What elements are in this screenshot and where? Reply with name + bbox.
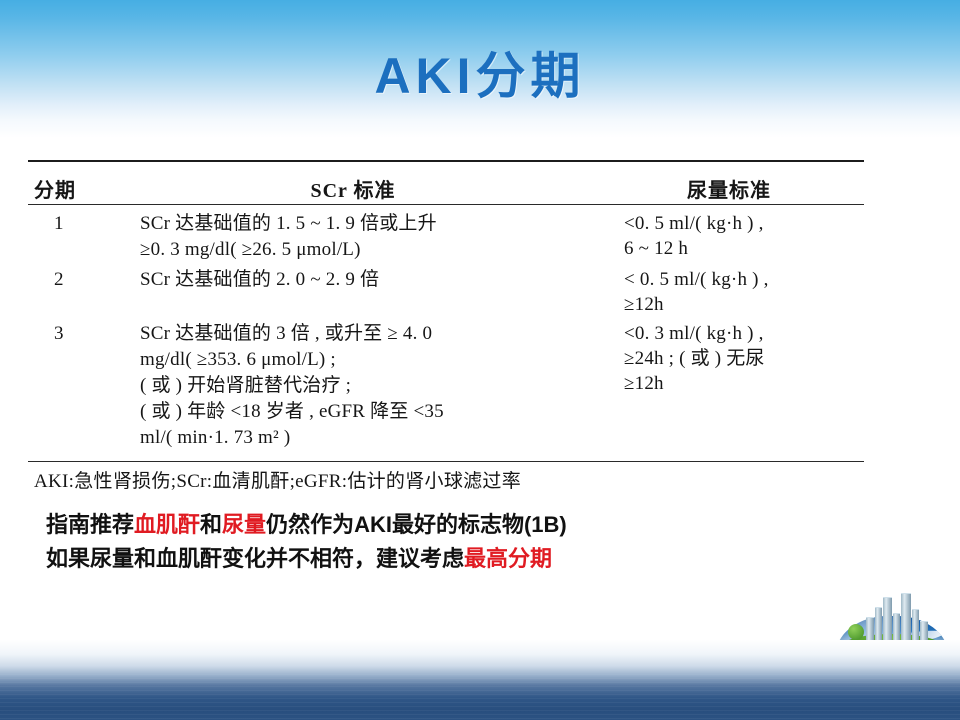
body-line1-part1: 指南推荐: [46, 512, 134, 537]
body-line2-part1: 如果尿量和血肌酐变化并不相符，建议考虑: [46, 546, 464, 571]
body-text-line-1: 指南推荐血肌酐和尿量仍然作为AKI最好的标志物(1B): [46, 508, 567, 542]
tree-icon: [848, 624, 864, 640]
table-row: 3 SCr 达基础值的 3 倍 , 或升至 ≥ 4. 0 mg/dl( ≥353…: [28, 321, 864, 451]
table-body: 1 SCr 达基础值的 1. 5 ~ 1. 9 倍或上升 ≥0. 3 mg/dl…: [28, 205, 864, 461]
cell-line: < 0. 5 ml/( kg·h ) ,: [624, 267, 906, 292]
table-row: 1 SCr 达基础值的 1. 5 ~ 1. 9 倍或上升 ≥0. 3 mg/dl…: [28, 211, 864, 263]
cell-stage: 2: [28, 267, 138, 293]
column-header-stage: 分期: [28, 178, 118, 204]
cell-stage: 3: [28, 321, 138, 347]
cell-line: SCr 达基础值的 1. 5 ~ 1. 9 倍或上升: [140, 211, 610, 237]
cell-urine: < 0. 5 ml/( kg·h ) , ≥12h: [616, 267, 906, 317]
cell-line: ( 或 ) 年龄 <18 岁者 , eGFR 降至 <35: [140, 399, 610, 425]
cell-line: <0. 5 ml/( kg·h ) ,: [624, 211, 906, 236]
cell-line: ml/( min·1. 73 m² ): [140, 425, 610, 451]
body-line2-highlight-stage: 最高分期: [464, 546, 552, 571]
aki-staging-table: 分期 SCr 标准 尿量标准 1 SCr 达基础值的 1. 5 ~ 1. 9 倍…: [28, 160, 864, 503]
slide-canvas: AKI分期 分期 SCr 标准 尿量标准 1 SCr 达基础值的 1. 5 ~ …: [0, 0, 960, 720]
cell-line: ≥0. 3 mg/dl( ≥26. 5 μmol/L): [140, 237, 610, 263]
body-line1-part3: 仍然作为AKI最好的标志物(1B): [266, 512, 567, 537]
body-line1-highlight-urine: 尿量: [222, 512, 266, 537]
cell-scr: SCr 达基础值的 1. 5 ~ 1. 9 倍或上升 ≥0. 3 mg/dl( …: [138, 211, 616, 263]
body-text-line-2: 如果尿量和血肌酐变化并不相符，建议考虑最高分期: [46, 542, 567, 576]
column-header-scr: SCr 标准: [118, 178, 588, 204]
cell-line: SCr 达基础值的 3 倍 , 或升至 ≥ 4. 0: [140, 321, 610, 347]
cell-line: SCr 达基础值的 2. 0 ~ 2. 9 倍: [140, 267, 610, 293]
table-footnote: AKI:急性肾损伤;SCr:血清肌酐;eGFR:估计的肾小球滤过率: [28, 462, 864, 503]
water-ripples: [0, 674, 960, 720]
cell-scr: SCr 达基础值的 2. 0 ~ 2. 9 倍: [138, 267, 616, 293]
city-skyline-icon: [866, 592, 928, 644]
cell-line: mg/dl( ≥353. 6 μmol/L) ;: [140, 347, 610, 373]
cell-line: 6 ~ 12 h: [624, 236, 906, 261]
table-header-row: 分期 SCr 标准 尿量标准: [28, 162, 864, 204]
cell-line: ( 或 ) 开始肾脏替代治疗 ;: [140, 373, 610, 399]
body-line1-part2: 和: [200, 512, 222, 537]
cell-urine: <0. 3 ml/( kg·h ) , ≥24h ; ( 或 ) 无尿 ≥12h: [616, 321, 906, 396]
table-row: 2 SCr 达基础值的 2. 0 ~ 2. 9 倍 < 0. 5 ml/( kg…: [28, 267, 864, 317]
column-header-urine: 尿量标准: [588, 178, 888, 204]
page-title: AKI分期: [0, 36, 960, 108]
cell-line: ≥24h ; ( 或 ) 无尿: [624, 346, 906, 371]
cell-stage: 1: [28, 211, 138, 237]
cell-urine: <0. 5 ml/( kg·h ) , 6 ~ 12 h: [616, 211, 906, 261]
body-line1-highlight-scr: 血肌酐: [134, 512, 200, 537]
body-text-block: 指南推荐血肌酐和尿量仍然作为AKI最好的标志物(1B) 如果尿量和血肌酐变化并不…: [46, 508, 567, 576]
cell-line: ≥12h: [624, 371, 906, 396]
cell-line: ≥12h: [624, 292, 906, 317]
cell-line: <0. 3 ml/( kg·h ) ,: [624, 321, 906, 346]
cell-scr: SCr 达基础值的 3 倍 , 或升至 ≥ 4. 0 mg/dl( ≥353. …: [138, 321, 616, 451]
